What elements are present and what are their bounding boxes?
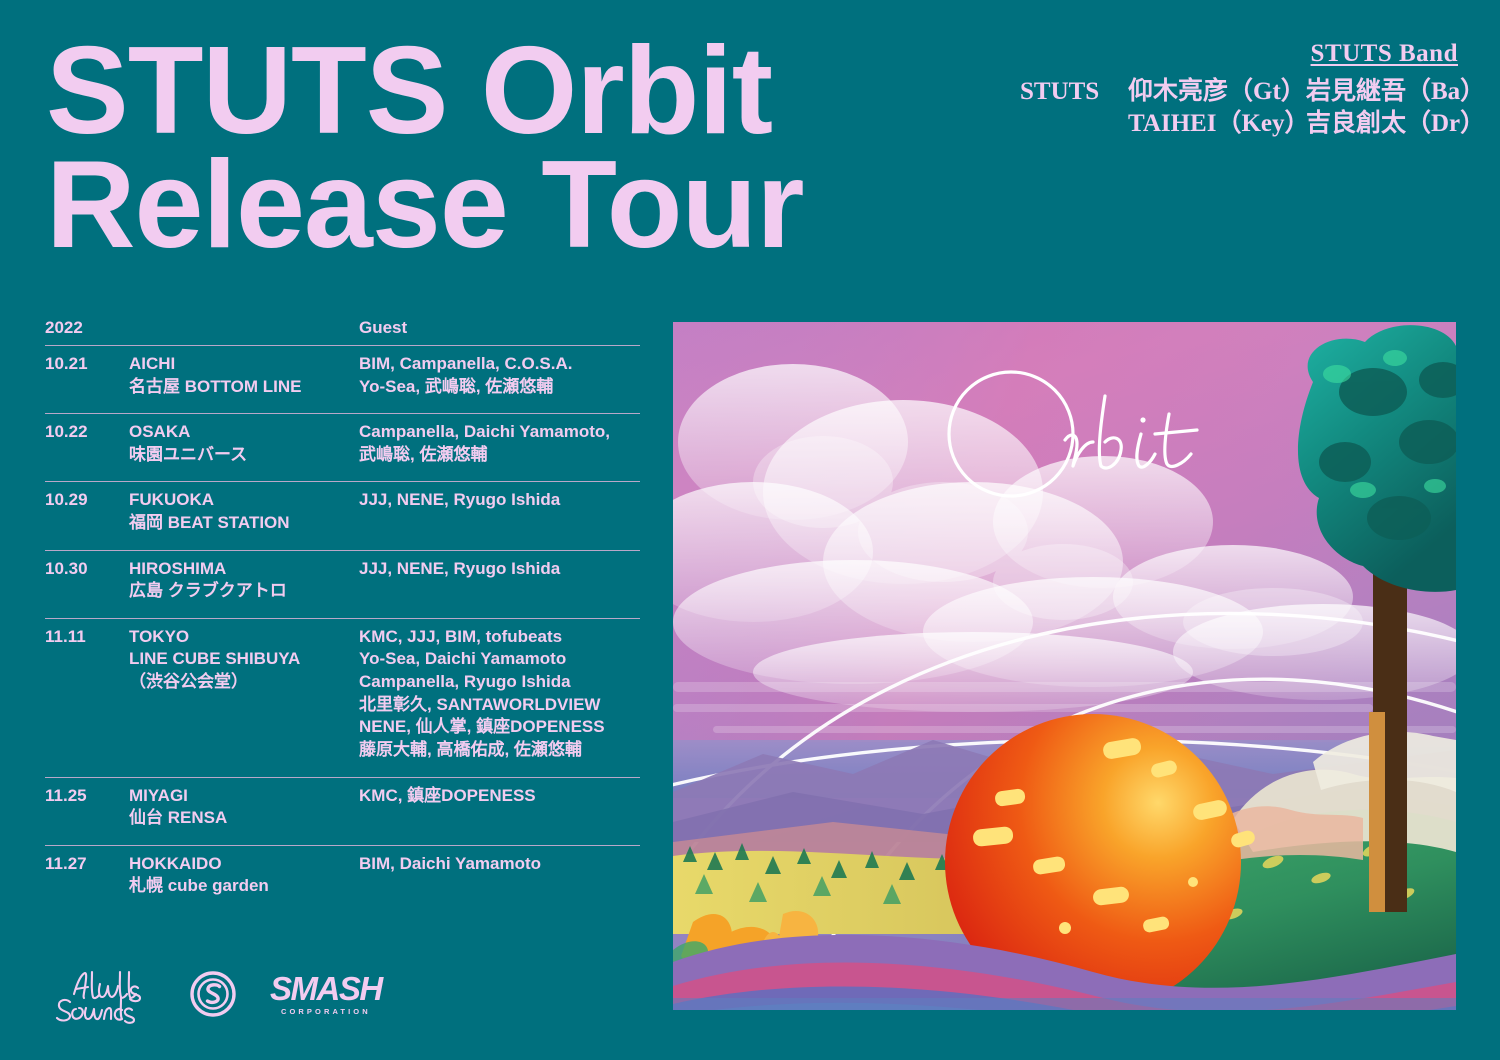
- row-guest-line: NENE, 仙人掌, 鎮座DOPENESS: [359, 716, 640, 739]
- table-row: 11.27 HOKKAIDO 札幌 cube garden BIM, Daich…: [45, 845, 640, 908]
- band-credits-row: TAIHEI（Key）吉良創太（Dr）: [1020, 108, 1458, 140]
- row-date: 10.29: [45, 489, 129, 512]
- row-venue-jp: 仙台 RENSA: [129, 807, 359, 830]
- sponsor-logos: SMASH CORPORATION: [48, 964, 382, 1024]
- table-row: 11.11 TOKYO LINE CUBE SHIBUYA （渋谷公会堂） KM…: [45, 618, 640, 777]
- row-city-en: HIROSHIMA: [129, 558, 359, 581]
- row-venue-jp: LINE CUBE SHIBUYA: [129, 648, 359, 671]
- row-city-en: OSAKA: [129, 421, 359, 444]
- album-artwork: [673, 322, 1456, 1010]
- row-city-en: AICHI: [129, 353, 359, 376]
- table-row: 11.25 MIYAGI 仙台 RENSA KMC, 鎮座DOPENESS: [45, 777, 640, 845]
- band-credits-heading: STUTS Band: [1020, 40, 1458, 68]
- table-row: 10.22 OSAKA 味園ユニバース Campanella, Daichi Y…: [45, 413, 640, 481]
- row-venue-jp: 味園ユニバース: [129, 444, 359, 467]
- band-credits: STUTS Band STUTS仰木亮彦（Gt）岩見継吾（Ba） TAIHEI（…: [1020, 40, 1458, 140]
- row-city-en: MIYAGI: [129, 785, 359, 808]
- row-guest-line: BIM, Campanella, C.O.S.A.: [359, 353, 640, 376]
- row-venue-jp-alt: （渋谷公会堂）: [129, 671, 359, 694]
- row-date: 11.25: [45, 785, 129, 808]
- row-venue-jp: 札幌 cube garden: [129, 875, 359, 898]
- table-row: 10.30 HIROSHIMA 広島 クラブクアトロ JJJ, NENE, Ry…: [45, 550, 640, 618]
- row-date: 10.22: [45, 421, 129, 444]
- schedule-year-label: 2022: [45, 318, 129, 338]
- band-credits-row: STUTS仰木亮彦（Gt）岩見継吾（Ba）: [1020, 76, 1458, 108]
- credit-member-bass: 岩見継吾（Ba）: [1306, 76, 1458, 108]
- row-city-en: FUKUOKA: [129, 489, 359, 512]
- row-guest-line: 武嶋聡, 佐瀬悠輔: [359, 444, 640, 467]
- atlas-sounds-icon: [48, 964, 156, 1024]
- row-guest-line: Campanella, Ryugo Ishida: [359, 671, 640, 694]
- atlas-sounds-logo: [48, 964, 156, 1024]
- credit-member-guitar: 仰木亮彦（Gt）: [1128, 76, 1306, 108]
- s-circle-icon: [190, 971, 236, 1017]
- smash-subtitle: CORPORATION: [270, 1007, 382, 1016]
- row-date: 11.27: [45, 853, 129, 876]
- schedule-city-label: [129, 318, 359, 338]
- schedule-guest-label: Guest: [359, 318, 640, 338]
- row-date: 10.30: [45, 558, 129, 581]
- schedule-header: 2022 Guest: [45, 318, 640, 345]
- row-venue-jp: 福岡 BEAT STATION: [129, 512, 359, 535]
- row-guest-line: Yo-Sea, Daichi Yamamoto: [359, 648, 640, 671]
- credit-member-keys: TAIHEI（Key）: [1128, 108, 1306, 140]
- artwork-illustration: [673, 322, 1456, 1010]
- tour-schedule: 2022 Guest 10.21 AICHI 名古屋 BOTTOM LINE B…: [45, 318, 640, 908]
- smash-wordmark: SMASH: [270, 972, 382, 1005]
- poster-root: STUTS Orbit Release Tour STUTS Band STUT…: [0, 0, 1500, 1060]
- row-guest-line: KMC, JJJ, BIM, tofubeats: [359, 626, 640, 649]
- table-row: 10.21 AICHI 名古屋 BOTTOM LINE BIM, Campane…: [45, 345, 640, 413]
- row-date: 11.11: [45, 626, 129, 649]
- title-line-1: STUTS Orbit: [46, 34, 906, 148]
- s-monogram-logo: [190, 971, 236, 1017]
- title-line-2: Release Tour: [46, 148, 906, 262]
- page-title: STUTS Orbit Release Tour: [46, 34, 906, 262]
- row-guest-line: BIM, Daichi Yamamoto: [359, 853, 640, 876]
- row-guest-line: KMC, 鎮座DOPENESS: [359, 785, 640, 808]
- row-venue-jp: 広島 クラブクアトロ: [129, 580, 359, 603]
- row-guest-line: JJJ, NENE, Ryugo Ishida: [359, 558, 640, 581]
- credit-member-name: STUTS: [1020, 76, 1128, 108]
- table-row: 10.29 FUKUOKA 福岡 BEAT STATION JJJ, NENE,…: [45, 481, 640, 549]
- row-guest-line: Campanella, Daichi Yamamoto,: [359, 421, 640, 444]
- row-guest-line: 北里彰久, SANTAWORLDVIEW: [359, 694, 640, 717]
- row-city-en: TOKYO: [129, 626, 359, 649]
- row-guest-line: 藤原大輔, 高橋佑成, 佐瀬悠輔: [359, 739, 640, 762]
- row-venue-jp: 名古屋 BOTTOM LINE: [129, 376, 359, 399]
- row-date: 10.21: [45, 353, 129, 376]
- row-guest-line: Yo-Sea, 武嶋聡, 佐瀬悠輔: [359, 376, 640, 399]
- smash-corporation-logo: SMASH CORPORATION: [270, 972, 382, 1016]
- row-guest-line: JJJ, NENE, Ryugo Ishida: [359, 489, 640, 512]
- credit-member-drums: 吉良創太（Dr）: [1306, 108, 1458, 140]
- row-city-en: HOKKAIDO: [129, 853, 359, 876]
